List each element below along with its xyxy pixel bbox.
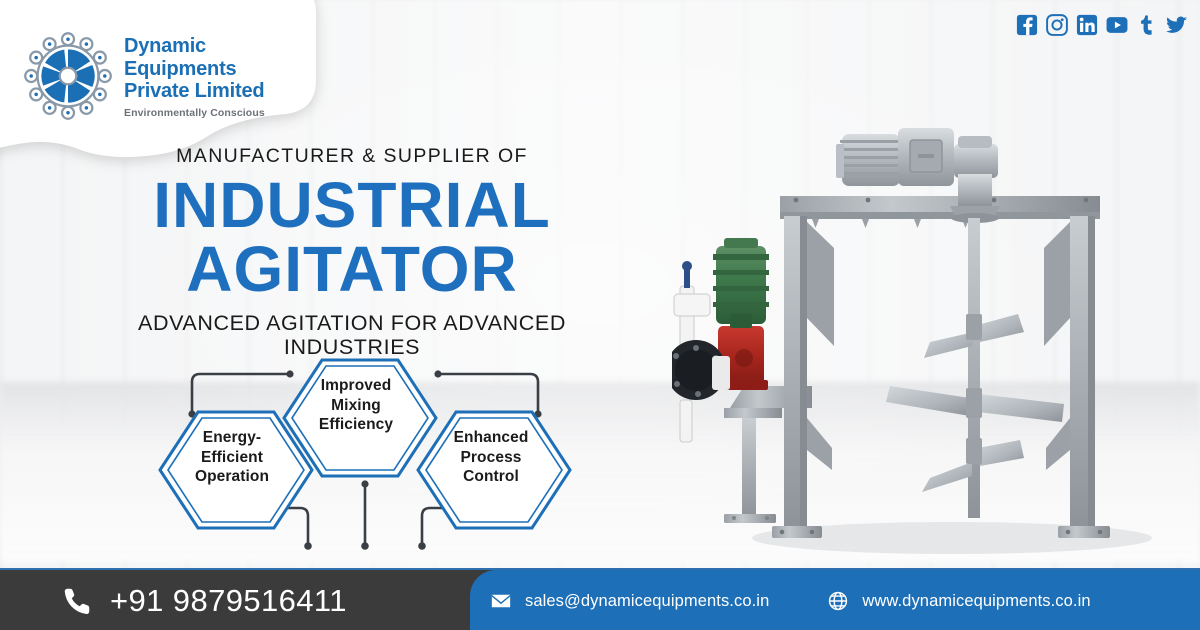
logo-name-line-3: Private Limited bbox=[124, 80, 265, 103]
email-contact[interactable]: sales@dynamicequipments.co.in bbox=[490, 590, 769, 612]
kicker-text: MANUFACTURER & SUPPLIER OF bbox=[72, 146, 632, 167]
title-line-1: INDUSTRIAL bbox=[72, 175, 632, 236]
gear-wheel-icon bbox=[22, 30, 114, 122]
hexagon-left bbox=[160, 412, 312, 528]
website-contact[interactable]: www.dynamicequipments.co.in bbox=[827, 590, 1090, 612]
hexagon-center bbox=[284, 360, 436, 476]
linkedin-icon[interactable] bbox=[1076, 14, 1098, 36]
title-line-2: AGITATOR bbox=[72, 239, 632, 300]
contact-panel: sales@dynamicequipments.co.in www.dynami… bbox=[470, 570, 1200, 630]
envelope-icon bbox=[490, 590, 512, 612]
logo-name-line-2: Equipments bbox=[124, 58, 265, 81]
hexagon-right bbox=[418, 412, 570, 528]
promo-banner: Dynamic Equipments Private Limited Envir… bbox=[0, 0, 1200, 630]
instagram-icon[interactable] bbox=[1046, 14, 1068, 36]
logo-wordmark: Dynamic Equipments Private Limited Envir… bbox=[124, 33, 265, 119]
phone-number: +91 9879516411 bbox=[110, 583, 347, 619]
company-logo[interactable]: Dynamic Equipments Private Limited Envir… bbox=[14, 16, 314, 136]
twitter-icon[interactable] bbox=[1166, 14, 1188, 36]
logo-name-line-1: Dynamic bbox=[124, 35, 265, 58]
facebook-icon[interactable] bbox=[1016, 14, 1038, 36]
social-links bbox=[1016, 14, 1188, 36]
logo-tagline: Environmentally Conscious bbox=[124, 107, 265, 119]
headline-block: MANUFACTURER & SUPPLIER OF INDUSTRIAL AG… bbox=[72, 146, 632, 360]
youtube-icon[interactable] bbox=[1106, 14, 1128, 36]
contact-bar: +91 9879516411 sales@dynamicequipments.c… bbox=[0, 568, 1200, 630]
product-image bbox=[672, 118, 1200, 570]
globe-icon bbox=[827, 590, 849, 612]
website-url: www.dynamicequipments.co.in bbox=[862, 592, 1090, 611]
phone-contact[interactable]: +91 9879516411 bbox=[62, 570, 347, 630]
tumblr-icon[interactable] bbox=[1136, 14, 1158, 36]
phone-icon bbox=[62, 586, 92, 616]
features-diagram: Energy- Efficient Operation Improved Mix… bbox=[150, 348, 580, 573]
email-address: sales@dynamicequipments.co.in bbox=[525, 592, 769, 611]
